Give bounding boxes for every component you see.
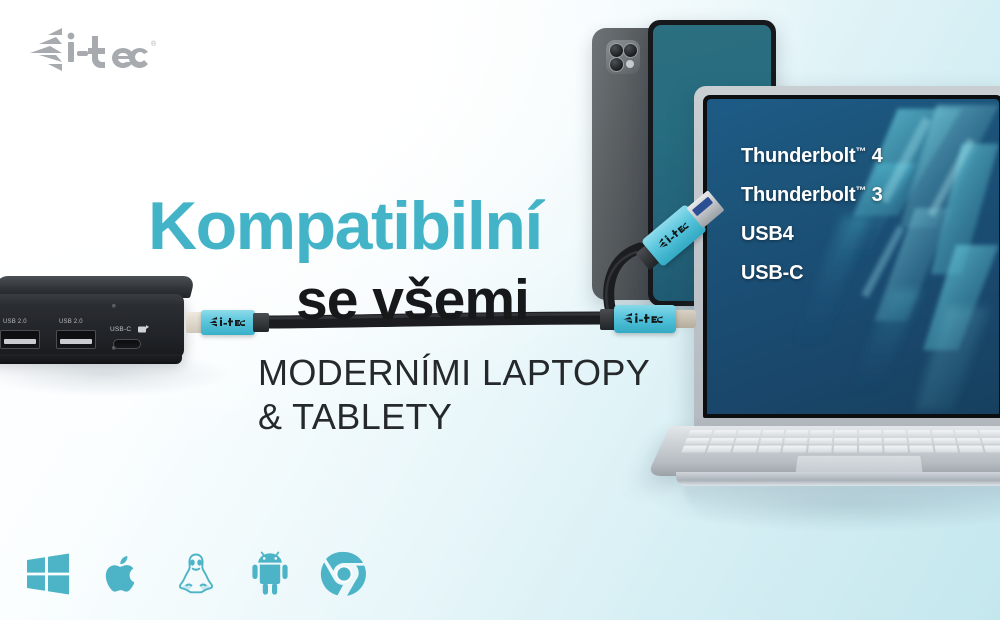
screen-list-item-2: USB4	[741, 223, 883, 246]
screen-item-0-name: Thunderbolt	[741, 145, 855, 167]
key	[709, 438, 734, 444]
laptop-bezel: Thunderbolt™ 4 Thunderbolt™ 3 USB4 USB-C	[703, 95, 1000, 418]
screen-item-1-tm: ™	[855, 185, 866, 197]
screen-list-item-3: USB-C	[741, 262, 883, 285]
key	[757, 446, 782, 453]
usb-c-port-label: USB-C	[110, 326, 131, 333]
dock-front-panel: USB 2.0 USB 2.0 USB-C	[0, 294, 184, 358]
key	[761, 430, 785, 436]
screen-item-1-name: Thunderbolt	[741, 184, 855, 206]
laptop-trackpad	[796, 456, 923, 473]
screen-item-0-suffix: 4	[866, 145, 882, 167]
camera-lens-3	[609, 57, 624, 72]
laptop-lid: Thunderbolt™ 4 Thunderbolt™ 3 USB4 USB-C	[694, 86, 1000, 430]
key	[908, 438, 932, 444]
headline-line-3b: & TABLETY	[258, 395, 700, 439]
dock-screw-top	[112, 304, 116, 308]
connector-itec-logo	[208, 317, 248, 328]
key	[933, 438, 957, 444]
key	[957, 438, 981, 444]
docking-station: USB 2.0 USB 2.0 USB-C	[0, 276, 198, 366]
camera-lens-1	[609, 43, 624, 58]
laptop-screen: Thunderbolt™ 4 Thunderbolt™ 3 USB4 USB-C	[707, 99, 999, 414]
key	[784, 438, 808, 444]
key	[959, 446, 984, 453]
key	[982, 438, 1000, 444]
usb-2-0-label-2: USB 2.0	[59, 319, 83, 325]
key	[835, 430, 857, 436]
key	[884, 446, 908, 453]
key	[809, 438, 832, 444]
key	[737, 430, 761, 436]
key	[681, 446, 707, 453]
os-compatibility-icons	[24, 550, 368, 598]
left-cable-highlight	[268, 314, 606, 318]
key	[859, 438, 882, 444]
key	[783, 446, 807, 453]
dock-base	[0, 354, 182, 364]
laptop-keyboard-deck	[647, 426, 1000, 476]
tablet-camera-module	[606, 40, 640, 74]
usb-c-port	[113, 339, 141, 349]
key	[808, 446, 832, 453]
screen-list-item-1: Thunderbolt™ 3	[741, 184, 883, 207]
left-cable	[268, 318, 606, 322]
right-usb-c-tip	[674, 310, 696, 328]
usb-2-0-port-2	[56, 330, 96, 349]
key	[834, 446, 857, 453]
key	[684, 438, 709, 444]
screen-item-3-name: USB-C	[741, 262, 803, 284]
windows-icon	[24, 550, 72, 598]
screen-item-0-tm: ™	[855, 146, 866, 158]
camera-lens-2	[623, 43, 638, 58]
camera-flash	[626, 60, 634, 68]
key	[909, 446, 933, 453]
laptop: Thunderbolt™ 4 Thunderbolt™ 3 USB4 USB-C	[694, 86, 1000, 516]
key	[859, 446, 882, 453]
screen-compatibility-list: Thunderbolt™ 4 Thunderbolt™ 3 USB4 USB-C	[741, 145, 883, 301]
apple-icon	[98, 550, 146, 598]
key	[883, 430, 906, 436]
screen-item-1-suffix: 3	[866, 184, 882, 206]
android-icon	[246, 550, 294, 598]
laptop-keyboard	[681, 430, 1000, 452]
key	[859, 430, 881, 436]
right-usb-c-connector	[614, 305, 676, 333]
key	[931, 430, 955, 436]
key	[759, 438, 783, 444]
key	[980, 430, 1000, 436]
key	[884, 438, 907, 444]
key	[984, 446, 1000, 453]
key	[907, 430, 930, 436]
usb-c-port-icon	[138, 325, 149, 334]
headline-line-3a: MODERNÍMI LAPTOPY	[258, 351, 700, 395]
connector-itec-logo	[622, 313, 666, 325]
key	[786, 430, 809, 436]
key	[712, 430, 736, 436]
key	[688, 430, 713, 436]
key	[707, 446, 732, 453]
key	[734, 438, 758, 444]
usb-2-0-label-1: USB 2.0	[3, 319, 27, 325]
screen-item-2-name: USB4	[741, 223, 794, 245]
key	[934, 446, 959, 453]
itec-logo: ®	[18, 24, 158, 76]
linux-icon	[172, 550, 220, 598]
key	[955, 430, 979, 436]
key	[732, 446, 757, 453]
left-usb-c-connector	[201, 310, 255, 335]
logo-chevron-icon	[30, 28, 62, 71]
usb-2-0-port-1	[0, 330, 40, 349]
promo-banner: ® USB 2.0 USB 2.0 USB-C	[0, 0, 1000, 620]
chrome-icon	[320, 550, 368, 598]
logo-trademark: ®	[151, 40, 157, 48]
laptop-reflection	[684, 485, 1000, 521]
laptop-front-edge	[676, 472, 1000, 486]
key	[834, 438, 857, 444]
screen-list-item-0: Thunderbolt™ 4	[741, 145, 883, 168]
left-connector-strain-relief	[253, 313, 269, 332]
key	[810, 430, 833, 436]
logo-wordmark	[68, 33, 148, 68]
